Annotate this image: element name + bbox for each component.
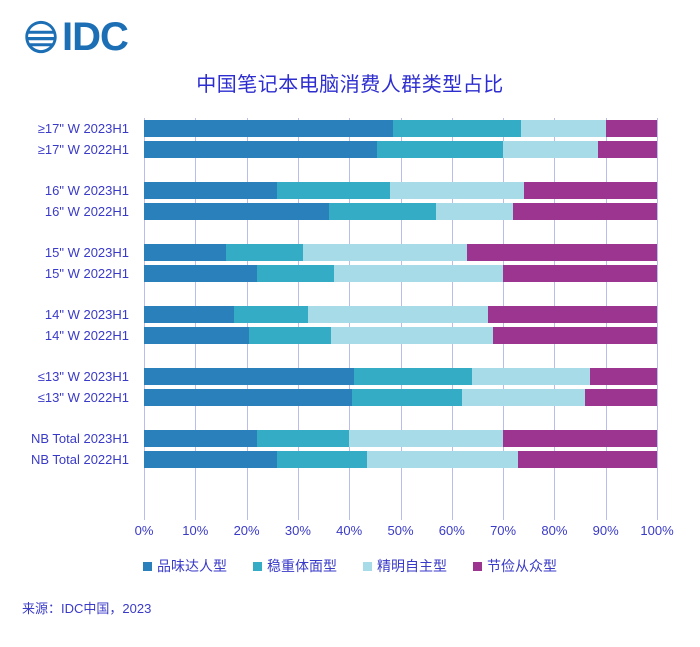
legend-item[interactable]: 稳重体面型	[253, 556, 337, 576]
legend-item[interactable]: 精明自主型	[363, 556, 447, 576]
bar-segment[interactable]	[585, 389, 657, 406]
bar-segment[interactable]	[277, 182, 390, 199]
y-axis-label: ≥17" W 2022H1	[0, 141, 138, 158]
x-axis-tick-label: 20%	[234, 523, 260, 538]
bar-segment[interactable]	[331, 327, 493, 344]
bar-segment[interactable]	[257, 265, 334, 282]
y-axis-label: 14" W 2022H1	[0, 327, 138, 344]
bar-segment[interactable]	[503, 430, 657, 447]
legend-swatch-icon	[363, 562, 372, 571]
bar-segment[interactable]	[513, 203, 657, 220]
bar-segment[interactable]	[393, 120, 521, 137]
x-axis-tick-label: 30%	[285, 523, 311, 538]
bar-segment[interactable]	[606, 120, 657, 137]
gridline	[657, 118, 658, 520]
x-axis-tick-label: 0%	[135, 523, 154, 538]
bar-segment[interactable]	[144, 203, 329, 220]
bar-segment[interactable]	[329, 203, 437, 220]
bar-row[interactable]	[144, 430, 657, 447]
bar-segment[interactable]	[524, 182, 657, 199]
legend-label: 稳重体面型	[267, 556, 337, 576]
idc-globe-icon	[22, 18, 60, 56]
bar-row[interactable]	[144, 265, 657, 282]
bar-segment[interactable]	[144, 327, 249, 344]
bar-segment[interactable]	[390, 182, 523, 199]
bar-segment[interactable]	[226, 244, 303, 261]
bar-segment[interactable]	[144, 265, 257, 282]
x-axis-tick-label: 90%	[593, 523, 619, 538]
bar-segment[interactable]	[277, 451, 367, 468]
bar-row[interactable]	[144, 120, 657, 137]
bar-segment[interactable]	[472, 368, 590, 385]
bar-segment[interactable]	[144, 120, 393, 137]
y-axis-label: 16" W 2023H1	[0, 182, 138, 199]
bar-segment[interactable]	[144, 389, 352, 406]
bar-segment[interactable]	[334, 265, 503, 282]
x-axis-tick-label: 40%	[336, 523, 362, 538]
bar-row[interactable]	[144, 451, 657, 468]
bar-segment[interactable]	[436, 203, 513, 220]
bar-segment[interactable]	[354, 368, 472, 385]
bar-segment[interactable]	[144, 244, 226, 261]
bar-row[interactable]	[144, 244, 657, 261]
bar-row[interactable]	[144, 368, 657, 385]
bar-segment[interactable]	[598, 141, 657, 158]
legend-label: 精明自主型	[377, 556, 447, 576]
y-axis-label: ≤13" W 2023H1	[0, 368, 138, 385]
bar-segment[interactable]	[144, 368, 354, 385]
bar-segment[interactable]	[257, 430, 349, 447]
bar-segment[interactable]	[144, 306, 234, 323]
y-axis-label: NB Total 2022H1	[0, 451, 138, 468]
bar-row[interactable]	[144, 389, 657, 406]
y-axis-label: ≥17" W 2023H1	[0, 120, 138, 137]
x-axis-labels: 0%10%20%30%40%50%60%70%80%90%100%	[144, 523, 657, 543]
bar-row[interactable]	[144, 182, 657, 199]
bar-segment[interactable]	[303, 244, 467, 261]
chart-legend: 品味达人型稳重体面型精明自主型节俭从众型	[0, 556, 700, 576]
x-axis-tick-label: 60%	[439, 523, 465, 538]
legend-swatch-icon	[253, 562, 262, 571]
y-axis-label: 16" W 2022H1	[0, 203, 138, 220]
legend-label: 品味达人型	[157, 556, 227, 576]
y-axis-label: ≤13" W 2022H1	[0, 389, 138, 406]
x-axis-tick-label: 10%	[182, 523, 208, 538]
y-axis-label: 15" W 2022H1	[0, 265, 138, 282]
x-axis-tick-label: 70%	[490, 523, 516, 538]
legend-item[interactable]: 品味达人型	[143, 556, 227, 576]
bar-segment[interactable]	[308, 306, 488, 323]
idc-logo: IDC	[22, 18, 128, 56]
y-axis-label: 14" W 2023H1	[0, 306, 138, 323]
idc-wordmark: IDC	[62, 18, 128, 56]
bar-segment[interactable]	[144, 141, 377, 158]
bar-row[interactable]	[144, 141, 657, 158]
bar-segment[interactable]	[462, 389, 585, 406]
bar-segment[interactable]	[493, 327, 657, 344]
bar-segment[interactable]	[518, 451, 657, 468]
plot-area	[144, 118, 657, 520]
y-axis-label: 15" W 2023H1	[0, 244, 138, 261]
bar-segment[interactable]	[521, 120, 606, 137]
bar-segment[interactable]	[467, 244, 657, 261]
legend-item[interactable]: 节俭从众型	[473, 556, 557, 576]
legend-label: 节俭从众型	[487, 556, 557, 576]
bar-series-container	[144, 118, 657, 520]
bar-row[interactable]	[144, 327, 657, 344]
bar-segment[interactable]	[367, 451, 518, 468]
bar-segment[interactable]	[503, 141, 598, 158]
x-axis-tick-label: 100%	[640, 523, 673, 538]
legend-swatch-icon	[473, 562, 482, 571]
chart-page: IDC 中国笔记本电脑消费人群类型占比 ≥17" W 2023H1≥17" W …	[0, 0, 700, 647]
bar-segment[interactable]	[144, 430, 257, 447]
bar-segment[interactable]	[249, 327, 331, 344]
y-axis-labels: ≥17" W 2023H1≥17" W 2022H116" W 2023H116…	[0, 118, 138, 520]
bar-segment[interactable]	[488, 306, 657, 323]
bar-segment[interactable]	[352, 389, 462, 406]
chart-title: 中国笔记本电脑消费人群类型占比	[0, 68, 700, 97]
bar-segment[interactable]	[144, 451, 277, 468]
x-axis-tick-label: 50%	[387, 523, 413, 538]
bar-row[interactable]	[144, 306, 657, 323]
bar-segment[interactable]	[349, 430, 503, 447]
bar-segment[interactable]	[503, 265, 657, 282]
bar-segment[interactable]	[377, 141, 503, 158]
y-axis-label: NB Total 2023H1	[0, 430, 138, 447]
source-note: 来源：IDC中国，2023	[22, 598, 151, 617]
legend-swatch-icon	[143, 562, 152, 571]
bar-segment[interactable]	[144, 182, 277, 199]
x-axis-tick-label: 80%	[541, 523, 567, 538]
bar-row[interactable]	[144, 203, 657, 220]
bar-segment[interactable]	[590, 368, 657, 385]
bar-segment[interactable]	[234, 306, 308, 323]
